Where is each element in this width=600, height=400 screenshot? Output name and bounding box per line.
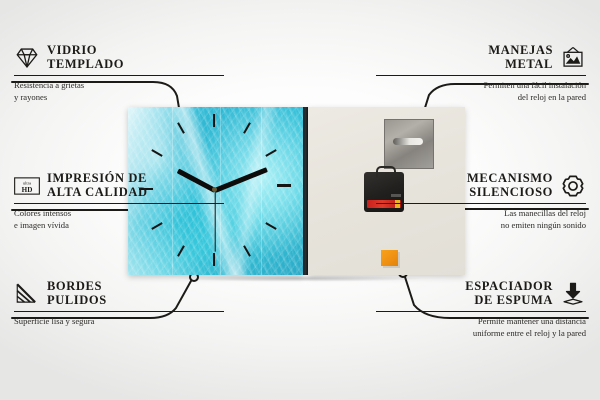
feature-title-line1: VIDRIO (47, 44, 124, 58)
feature-title-line2: ALTA CALIDAD (47, 186, 148, 200)
feature-description-line2: del reloj en la pared (376, 92, 586, 104)
diamond-icon (14, 45, 40, 71)
feature-description-line1: Colores intensos (14, 208, 224, 220)
feature-description: Colores intensos e imagen vívida (14, 208, 224, 232)
feature-vidrio-templado: VIDRIO TEMPLADO Resistencia a grietas y … (14, 44, 224, 104)
feature-description-line1: Las manecillas del reloj (376, 208, 586, 220)
manejas-metal-placa (384, 119, 434, 169)
feature-divider (14, 203, 224, 204)
feature-title-line2: METAL (488, 58, 553, 72)
feature-description-line2: no emiten ningún sonido (376, 220, 586, 232)
wall-hanger-icon (560, 45, 586, 71)
feature-title-line1: BORDES (47, 280, 107, 294)
feature-divider (376, 311, 586, 312)
hanger-slot (393, 138, 423, 145)
gear-icon (560, 173, 586, 199)
clock-tick (213, 114, 215, 127)
svg-text:ultra: ultra (23, 180, 31, 185)
feature-mecanismo-silencioso: MECANISMO SILENCIOSO Las manecillas del … (376, 172, 586, 232)
feature-bordes-pulidos: BORDES PULIDOS Superficie lisa y segura (14, 280, 224, 328)
clock-tick (213, 253, 215, 266)
feature-description: Superficie lisa y segura (14, 316, 224, 328)
feature-description: Las manecillas del reloj no emiten ningú… (376, 208, 586, 232)
feature-divider (376, 203, 586, 204)
feature-description-line1: Permite mantener una distancia (376, 316, 586, 328)
feature-divider (376, 75, 586, 76)
feature-description-line2: e imagen vívida (14, 220, 224, 232)
feature-description: Resistencia a grietas y rayones (14, 80, 224, 104)
feature-impresion-alta-calidad: ultra HD IMPRESIÓN DE ALTA CALIDAD Color… (14, 172, 224, 232)
feature-description-line1: Resistencia a grietas (14, 80, 224, 92)
feature-description-line1: Superficie lisa y segura (14, 316, 224, 328)
feature-description-line2: uniforme entre el reloj y la pared (376, 328, 586, 340)
feature-title-line1: IMPRESIÓN DE (47, 172, 148, 186)
feature-description-line2: y rayones (14, 92, 224, 104)
feature-title-line2: PULIDOS (47, 294, 107, 308)
feature-title-line2: DE ESPUMA (465, 294, 553, 308)
feature-description: Permiten una fácil instalación del reloj… (376, 80, 586, 104)
feature-title-line1: MANEJAS (488, 44, 553, 58)
feature-description-line1: Permiten una fácil instalación (376, 80, 586, 92)
foam-spacer-icon (560, 281, 586, 307)
ultra-hd-icon: ultra HD (14, 173, 40, 199)
feature-title-line1: ESPACIADOR (465, 280, 553, 294)
infographic-canvas: VIDRIO TEMPLADO Resistencia a grietas y … (0, 0, 600, 400)
espaciador-espuma (381, 250, 398, 266)
svg-text:HD: HD (22, 185, 33, 193)
feature-divider (14, 75, 224, 76)
clock-tick (277, 184, 291, 187)
polished-edges-icon (14, 281, 40, 307)
feature-title-line2: SILENCIOSO (467, 186, 553, 200)
feature-title-line1: MECANISMO (467, 172, 553, 186)
feature-description: Permite mantener una distancia uniforme … (376, 316, 586, 340)
feature-manejas-metal: MANEJAS METAL Permiten una fácil instala… (376, 44, 586, 104)
feature-divider (14, 311, 224, 312)
feature-title-line2: TEMPLADO (47, 58, 124, 72)
feature-espaciador-espuma: ESPACIADOR DE ESPUMA Permite mantener un… (376, 280, 586, 340)
